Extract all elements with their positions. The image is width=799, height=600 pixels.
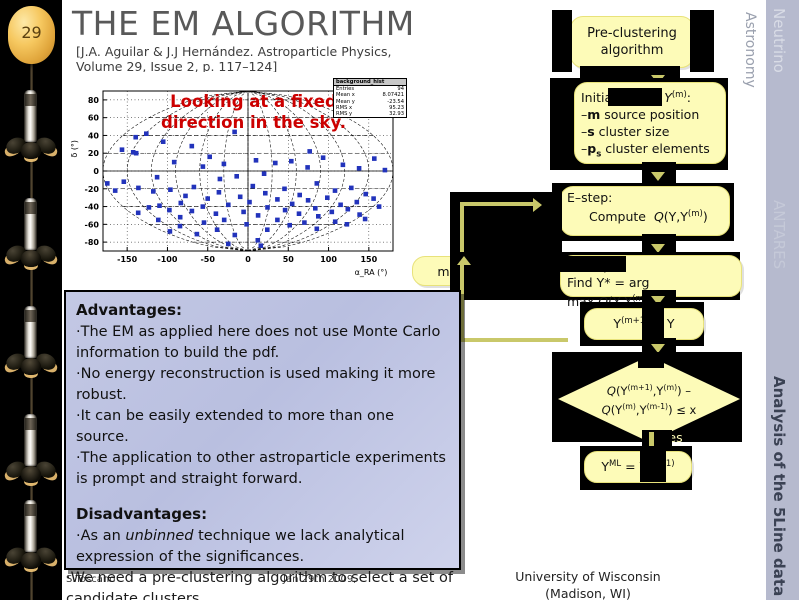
detector-storey <box>3 414 59 510</box>
rail-label-neutrino: Neutrino <box>770 8 788 73</box>
mask <box>642 305 664 341</box>
loop-horizontal-bottom <box>460 338 568 342</box>
rail-label-astronomy: Astronomy <box>742 12 758 88</box>
detector-storey <box>3 90 59 186</box>
flow-node-e-step[interactable]: E–step: Compute Q(Y,Y(m)) <box>560 186 730 236</box>
page-subtitle: [J.A. Aguilar & J.J Hernández. Astropart… <box>76 44 416 74</box>
svg-text:50: 50 <box>283 255 295 264</box>
stats-label: RMS y <box>336 111 352 117</box>
detector-storey <box>3 306 59 402</box>
svg-text:150: 150 <box>360 255 377 264</box>
stats-row: RMS y32.93 <box>334 111 406 117</box>
svg-text:20: 20 <box>88 149 100 158</box>
svg-text:-60: -60 <box>85 220 100 229</box>
em-algorithm-flowchart: Pre-clustering algorithm Initial values … <box>412 0 742 500</box>
sky-scatter-plot: -150-100-50050100150806040200-20-40-60-8… <box>62 72 409 289</box>
svg-text:α_RA (°): α_RA (°) <box>355 268 388 277</box>
svg-text:60: 60 <box>88 114 100 123</box>
initial-values-line-1: –m source position <box>581 106 710 123</box>
decision-line-0: Q(Y(m+1),Y(m)) – <box>602 380 697 399</box>
loop-arrowhead <box>533 198 542 212</box>
svg-text:δ (°): δ (°) <box>70 140 79 158</box>
mask <box>516 256 626 272</box>
loop-horizontal-top <box>460 202 535 206</box>
rail-label-antares: ANTARES <box>770 200 788 269</box>
stats-value: 32.93 <box>389 111 404 117</box>
mask <box>640 448 666 482</box>
mask <box>552 10 572 72</box>
loop-arrowhead-up <box>457 256 471 265</box>
plot-stats-box: background_hist Entries94Mean x8.07421Me… <box>333 78 407 118</box>
e-step-line-0: E–step: <box>567 189 708 206</box>
detector-strip-graphic: 29 <box>0 0 62 600</box>
rail-label-analysis: Analysis of the 5Line data <box>770 376 788 596</box>
svg-text:-50: -50 <box>200 255 215 264</box>
plot-annotation: Looking at a fixed direction in the sky. <box>151 91 356 133</box>
initial-values-line-3: –ps cluster elements <box>581 140 710 164</box>
slide-number: 29 <box>8 23 55 42</box>
flow-arrow-2 <box>651 172 665 181</box>
advantage-item: ·No energy reconstruction is used making… <box>76 364 449 406</box>
mask <box>638 352 664 368</box>
svg-text:100: 100 <box>320 255 337 264</box>
slide-number-badge: 29 <box>8 6 55 64</box>
svg-text:0: 0 <box>93 167 99 176</box>
mask <box>608 88 662 106</box>
advantage-item: ·It can be easily extended to more than … <box>76 406 449 448</box>
svg-text:0: 0 <box>245 255 251 264</box>
decision-line-1: Q(Y(m),Y(m-1)) ≤ x <box>602 399 697 418</box>
svg-text:-80: -80 <box>85 238 100 247</box>
svg-text:-40: -40 <box>85 203 100 212</box>
footer-body-text: ·We need a pre-clustering algorithm to s… <box>66 568 466 600</box>
detector-storey <box>3 500 59 596</box>
svg-text:80: 80 <box>88 96 100 105</box>
page-title: THE EM ALGORITHM <box>72 4 415 43</box>
mask <box>690 10 714 72</box>
disadvantage-item: ·As an unbinned technique we lack analyt… <box>76 526 449 568</box>
stats-title: background_hist <box>334 79 406 86</box>
svg-text:-150: -150 <box>117 255 137 264</box>
initial-values-line-2: –s cluster size <box>581 123 710 140</box>
svg-text:40: 40 <box>88 131 100 140</box>
advantage-item: ·The EM as applied here does not use Mon… <box>76 322 449 364</box>
disadvantages-heading: Disadvantages: <box>76 504 449 525</box>
flow-node-pre-clustering[interactable]: Pre-clustering algorithm <box>570 16 694 68</box>
e-step-line-1: Compute Q(Y,Y(m)) <box>567 206 708 225</box>
svg-text:-100: -100 <box>157 255 177 264</box>
slide-canvas: 29 Neutrino ANTARES Analysis of the 5Lin… <box>0 0 799 600</box>
flow-node-result[interactable]: YML = Y(m+1) <box>584 451 692 483</box>
detector-storey <box>3 198 59 294</box>
advantage-item: ·The application to other astroparticle … <box>76 448 449 490</box>
spacer <box>76 490 449 504</box>
footer-university: University of Wisconsin (Madison, WI) <box>493 568 683 600</box>
advantages-heading: Advantages: <box>76 300 449 321</box>
svg-text:-20: -20 <box>85 185 100 194</box>
advantages-disadvantages-box: Advantages: ·The EM as applied here does… <box>64 290 461 570</box>
